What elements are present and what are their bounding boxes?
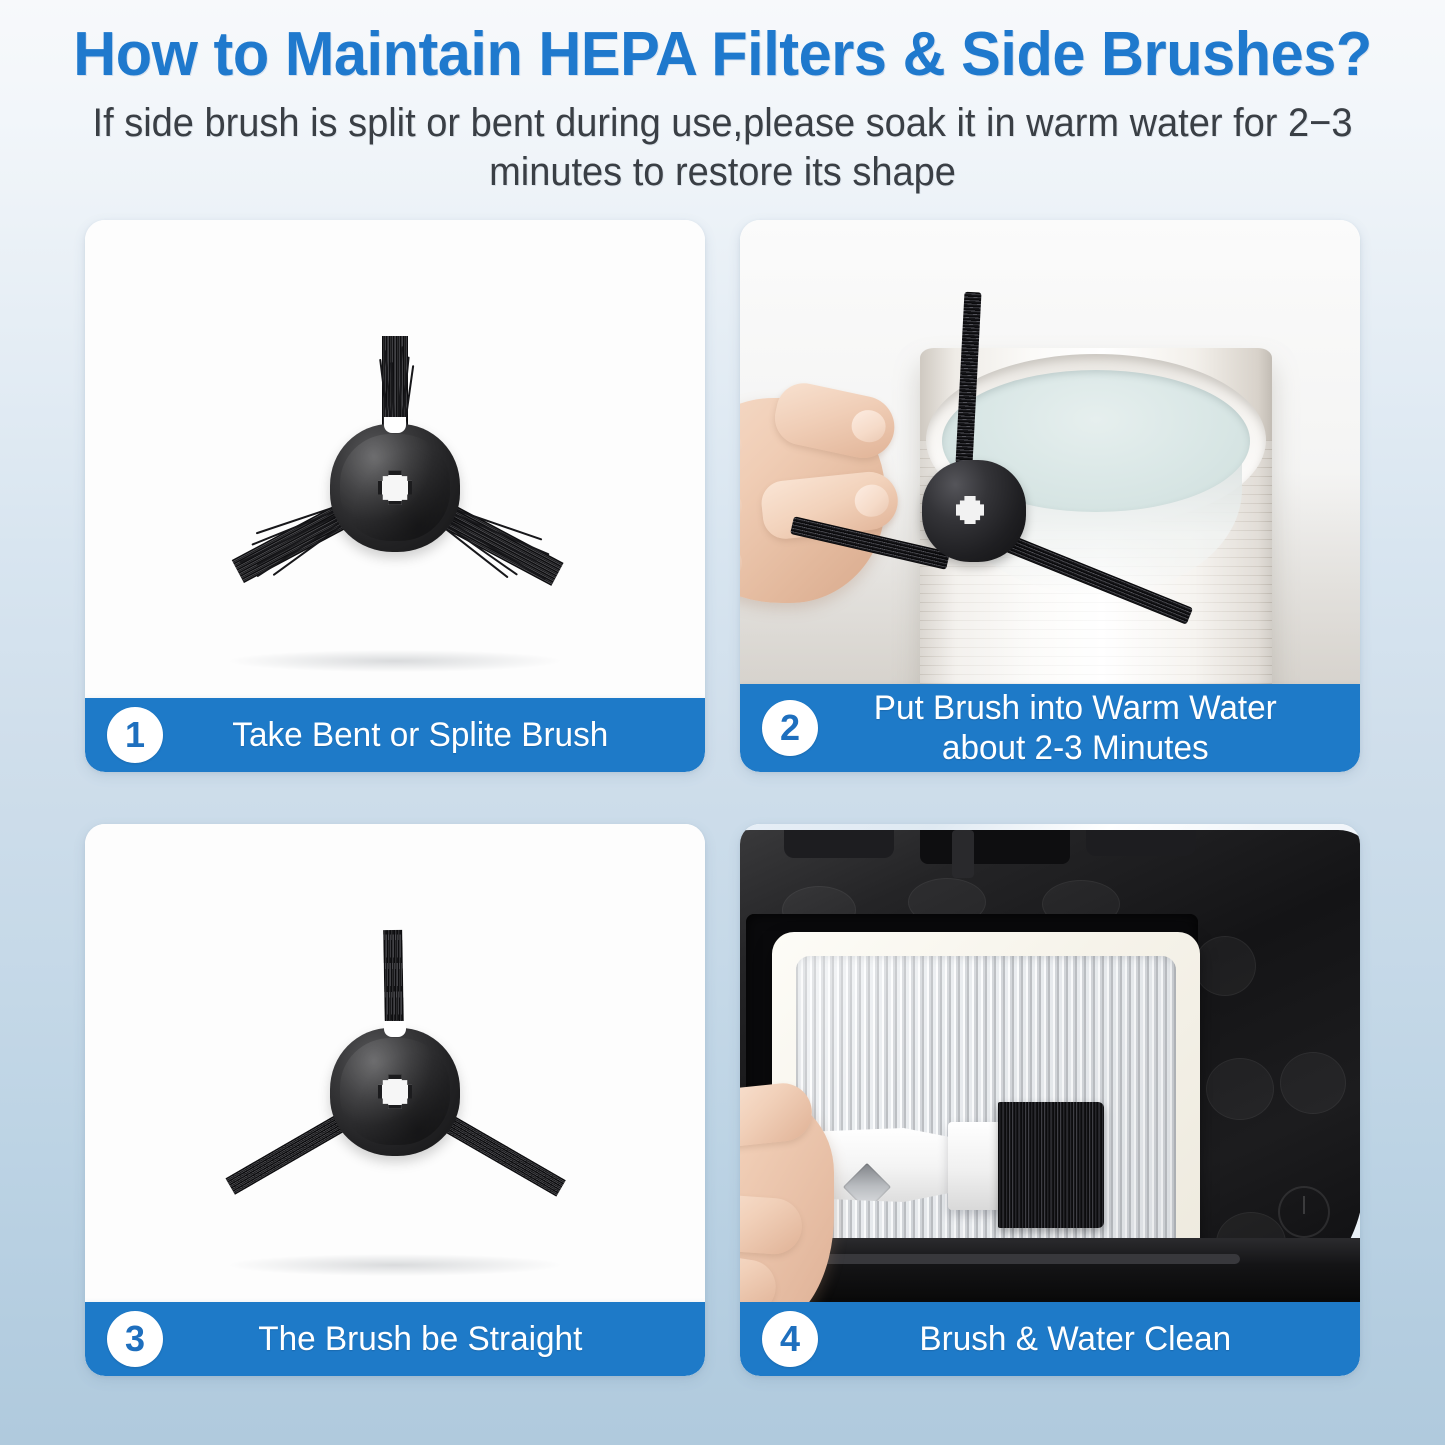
brush-tool-bristles: [998, 1102, 1104, 1228]
fingernail: [849, 407, 889, 445]
page-subtitle: If side brush is split or bent during us…: [36, 99, 1409, 197]
step-4-caption-bar: 4 Brush & Water Clean: [740, 1302, 1360, 1376]
steps-grid: 1 Take Bent or Splite Brush: [85, 220, 1360, 1405]
step-2-number-badge: 2: [762, 700, 818, 756]
step-3-caption-text: The Brush be Straight: [168, 1319, 699, 1359]
step-2-caption-text: Put Brush into Warm Water about 2-3 Minu…: [823, 688, 1354, 768]
hand-holding-cleaning-brush: [740, 1092, 864, 1302]
step-4-number-badge: 4: [762, 1311, 818, 1367]
side-brush-bent: [175, 288, 615, 688]
body-latch: [952, 830, 974, 878]
step-4-image: [740, 824, 1360, 1376]
mold-dot: [1206, 1058, 1274, 1120]
step-2-caption-bar: 2 Put Brush into Warm Water about 2-3 Mi…: [740, 684, 1360, 772]
step-3-number-badge: 3: [107, 1311, 163, 1367]
power-symbol-icon: [1278, 1186, 1330, 1238]
held-brush-arm-right: [1005, 535, 1193, 625]
brush-drop-shadow: [230, 650, 560, 672]
brush-drop-shadow: [230, 1254, 560, 1276]
step-1-caption-bar: 1 Take Bent or Splite Brush: [85, 698, 705, 772]
step-1-number-badge: 1: [107, 707, 163, 763]
warm-water-cup-illustration: [740, 220, 1360, 684]
straight-brush-illustration: [85, 824, 705, 1302]
step-card-1[interactable]: 1 Take Bent or Splite Brush: [85, 220, 705, 772]
step-3-image: [85, 824, 705, 1376]
mold-dot: [1280, 1052, 1346, 1114]
step-1-image: [85, 220, 705, 772]
thumbnail: [853, 483, 890, 518]
knuckle: [740, 484, 742, 530]
knuckle: [740, 540, 742, 586]
body-tab: [920, 830, 1070, 864]
page-header: How to Maintain HEPA Filters & Side Brus…: [0, 0, 1445, 197]
side-brush-straight: [175, 892, 615, 1292]
knuckle: [740, 424, 742, 470]
bent-brush-illustration: [85, 220, 705, 698]
step-1-caption-text: Take Bent or Splite Brush: [168, 715, 699, 755]
side-brush-held: [916, 402, 1196, 632]
step-card-3[interactable]: 3 The Brush be Straight: [85, 824, 705, 1376]
step-4-caption-text: Brush & Water Clean: [823, 1319, 1354, 1359]
step-card-2[interactable]: 2 Put Brush into Warm Water about 2-3 Mi…: [740, 220, 1360, 772]
hepa-filter-cleaning-illustration: [740, 824, 1360, 1302]
page-title: How to Maintain HEPA Filters & Side Brus…: [29, 22, 1416, 87]
step-card-4[interactable]: 4 Brush & Water Clean: [740, 824, 1360, 1376]
step-3-caption-bar: 3 The Brush be Straight: [85, 1302, 705, 1376]
body-tab: [1086, 830, 1196, 856]
body-tab: [784, 830, 894, 858]
mold-dot: [1194, 936, 1256, 996]
